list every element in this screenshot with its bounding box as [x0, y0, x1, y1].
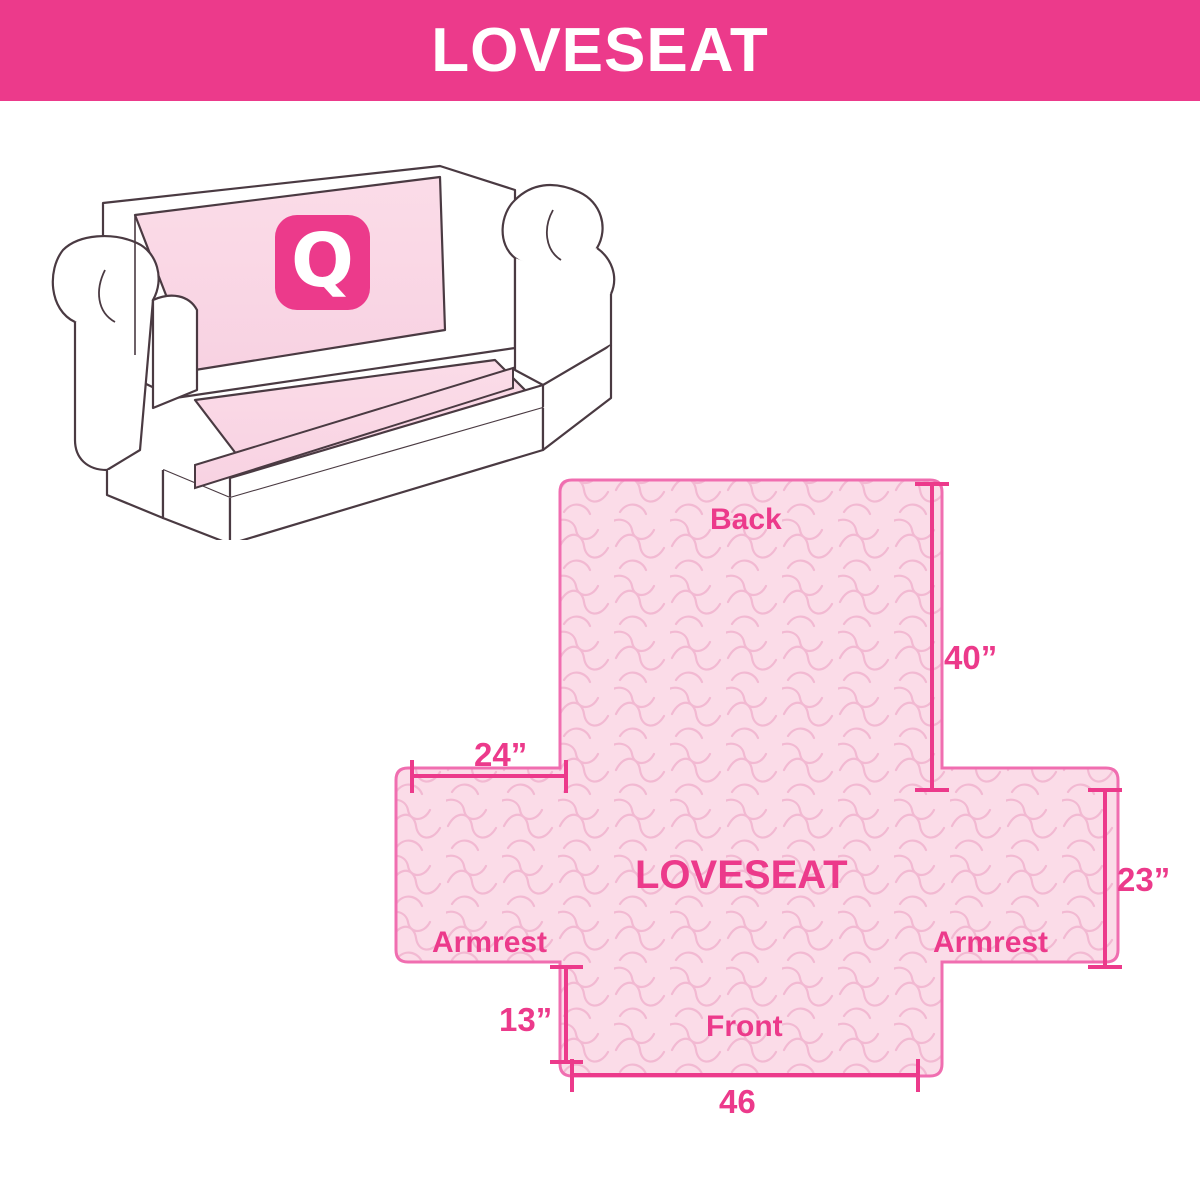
dimension-label-back-height: 40” [944, 641, 997, 674]
q-logo-letter: Q [291, 224, 354, 298]
loveseat-flat-pattern-diagram [390, 460, 1180, 1140]
dimension-label-center-height: 23” [1117, 863, 1170, 896]
page-title: LOVESEAT [431, 20, 769, 82]
panel-label-armrest-left: Armrest [432, 928, 547, 958]
dimension-label-back-width-left: 24” [474, 738, 527, 771]
loveseat-spec-sheet: LOVESEAT [0, 0, 1200, 1200]
dimension-label-front-height: 13” [499, 1003, 552, 1036]
q-logo-badge: Q [275, 215, 370, 310]
panel-label-center: LOVESEAT [635, 855, 848, 895]
panel-label-back: Back [710, 505, 782, 535]
header-bar: LOVESEAT [0, 0, 1200, 101]
dimension-label-total-width: 46 [719, 1085, 756, 1118]
pattern-shape-svg [390, 460, 1180, 1140]
panel-label-armrest-right: Armrest [933, 928, 1048, 958]
panel-label-front: Front [706, 1012, 783, 1042]
